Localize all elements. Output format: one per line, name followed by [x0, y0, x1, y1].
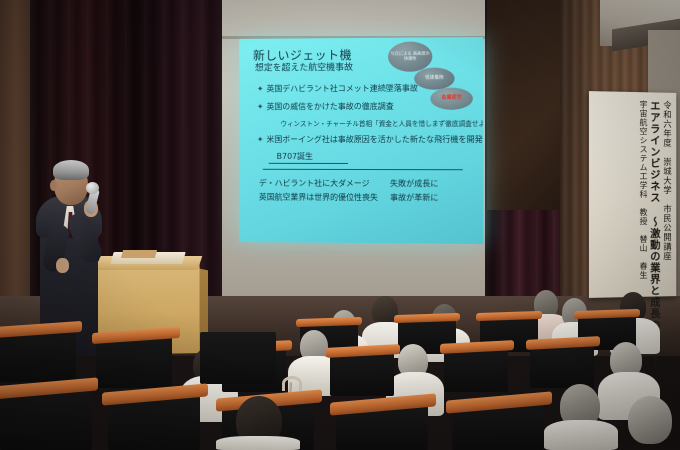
banner-column-2: エアラインビジネス ～激動の業界と成長の本質～: [649, 100, 660, 288]
projected-slide: 新しいジェット機 想定を超えた航空機事故 ✦英国デハビラント社コメット連続墜落事…: [239, 37, 483, 244]
slide-quote: ウィンストン・チャーチル首相「資金と人員を惜しまず徹底調査せよ」: [281, 118, 484, 128]
slide-footer-left-2: 英国航空業界は世界的優位性喪失: [259, 192, 378, 203]
banner-column-3: 宇宙航空システム工学科 教授 替山 春生: [639, 100, 647, 289]
seat-back: [96, 336, 172, 388]
slide-bullet-3: ✦米国ボーイング社は事故原因を活かした新たな飛行機を開発: [257, 134, 483, 145]
walking-cane-handle: [282, 376, 302, 391]
seat-back: [444, 348, 508, 392]
slide-underline: [269, 163, 348, 164]
seat-back: [0, 390, 92, 450]
audience-torso: [544, 420, 618, 450]
bullet-marker-icon: ✦: [257, 84, 264, 93]
lectern-papers-stack: [121, 250, 157, 258]
event-banner: 令和六年度 崇城大学 市民公開講座 エアラインビジネス ～激動の業界と成長の本質…: [589, 91, 676, 298]
slide-ellipse-2: 低速着陸: [414, 67, 454, 89]
slide-footer-right-2: 事故が革新に: [390, 192, 438, 203]
slide-footer-left-1: デ・ハビラント社に大ダメージ: [259, 178, 370, 189]
seat-back: [200, 332, 276, 384]
lecture-hall-photo: 新しいジェット機 想定を超えた航空機事故 ✦英国デハビラント社コメット連続墜落事…: [0, 0, 680, 450]
bullet-marker-icon: ✦: [257, 135, 264, 144]
slide-bullet-2: ✦英国の威信をかけた事故の徹底調査: [257, 101, 394, 112]
audience-head: [628, 396, 672, 444]
slide-bullet-1: ✦英国デハビラント社コメット連続墜落事故: [257, 83, 418, 95]
slide-divider: [263, 169, 463, 170]
microphone-head-icon: [86, 182, 99, 194]
slide-bullet-1-text: 英国デハビラント社コメット連続墜落事故: [266, 84, 417, 94]
slide-bullet-2-text: 英国の威信をかけた事故の徹底調査: [266, 102, 393, 111]
slide-note: B707誕生: [277, 151, 313, 162]
presenter-hair: [53, 160, 89, 180]
right-dark-wood-panel: [487, 0, 565, 210]
presenter-ear: [50, 180, 57, 191]
slide-bullet-3-text: 米国ボーイング社は事故原因を活かした新たな飛行機を開発: [266, 135, 482, 144]
banner-column-1: 令和六年度 崇城大学 市民公開講座: [662, 101, 671, 289]
bullet-marker-icon: ✦: [257, 102, 264, 111]
slide-ellipse-3: 金属疲労: [430, 88, 473, 110]
audience-torso: [216, 436, 300, 450]
slide-footer-right-1: 失敗が成長に: [390, 178, 438, 189]
seat-back: [108, 396, 200, 450]
seat-back: [530, 344, 594, 388]
seat-back: [330, 352, 394, 396]
presenter-second-hand: [56, 258, 69, 273]
seat-back: [0, 330, 76, 382]
slide-subtitle: 想定を超えた航空機事故: [255, 60, 353, 74]
slide-ellipse-1: 与圧による 高高度の 快適性: [388, 41, 432, 71]
